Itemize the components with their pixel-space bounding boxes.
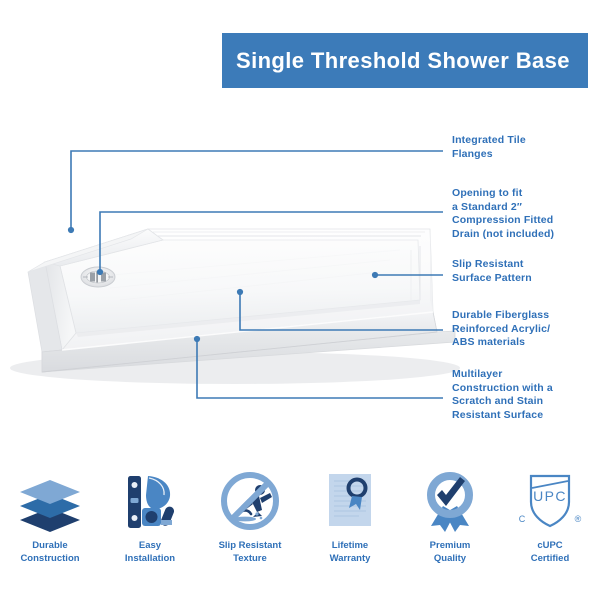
level-trowel-icon bbox=[115, 468, 185, 534]
layers-icon bbox=[15, 468, 85, 534]
certificate-icon bbox=[315, 468, 385, 534]
feature-easy-installation: Easy Installation bbox=[100, 462, 200, 600]
callout-line-integrated-tile-flanges bbox=[71, 151, 443, 230]
callout-label-slip-resistant-surface-pattern: Slip Resistant Surface Pattern bbox=[452, 258, 532, 285]
product-infographic: Single Threshold Shower Base bbox=[0, 0, 600, 600]
feature-label-easy-installation: Easy Installation bbox=[125, 540, 175, 565]
no-slip-icon bbox=[215, 468, 285, 534]
feature-label-durable-construction: Durable Construction bbox=[20, 540, 79, 565]
feature-label-lifetime-warranty: Lifetime Warranty bbox=[330, 540, 371, 565]
upc-shield-text: UPC bbox=[533, 488, 567, 504]
ribbon-check-icon bbox=[415, 468, 485, 534]
upc-shield-right-mark: ® bbox=[575, 514, 582, 524]
feature-durable-construction: Durable Construction bbox=[0, 462, 100, 600]
callout-label-integrated-tile-flanges: Integrated Tile Flanges bbox=[452, 134, 526, 161]
feature-slip-resistant: Slip Resistant Texture bbox=[200, 462, 300, 600]
upc-shield-icon: UPC C ® bbox=[515, 468, 585, 534]
callout-label-multilayer-construction: Multilayer Construction with a Scratch a… bbox=[452, 368, 553, 422]
feature-premium-quality: Premium Quality bbox=[400, 462, 500, 600]
callout-label-drain-opening: Opening to fit a Standard 2″ Compression… bbox=[452, 187, 554, 241]
feature-lifetime-warranty: Lifetime Warranty bbox=[300, 462, 400, 600]
feature-label-premium-quality: Premium Quality bbox=[430, 540, 471, 565]
upc-shield-left-mark: C bbox=[519, 514, 526, 524]
feature-label-cupc-certified: cUPC Certified bbox=[531, 540, 570, 565]
callout-label-durable-fiberglass-materials: Durable Fiberglass Reinforced Acrylic/ A… bbox=[452, 309, 550, 350]
feature-cupc-certified: UPC C ® cUPC Certified bbox=[500, 462, 600, 600]
shower-base-illustration bbox=[28, 228, 455, 372]
feature-badge-row: Durable Construction Easy Installation bbox=[0, 462, 600, 600]
feature-label-slip-resistant: Slip Resistant Texture bbox=[219, 540, 282, 565]
